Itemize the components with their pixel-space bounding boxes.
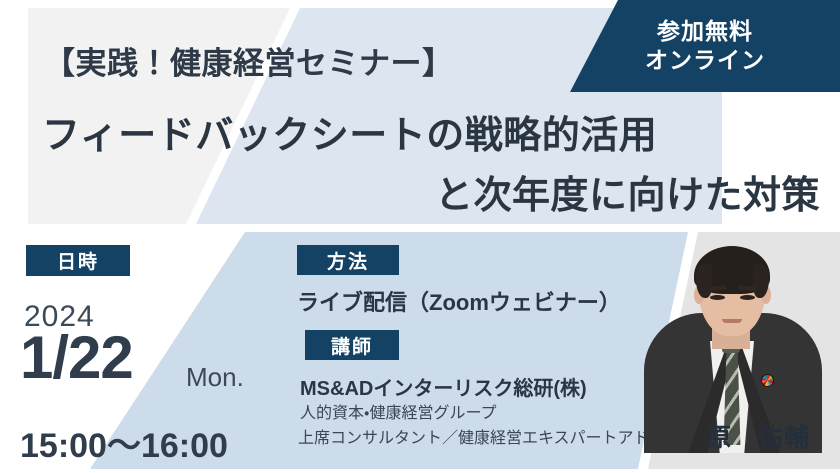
sdgs-pin-icon [761,374,774,387]
date-weekday: Mon. [186,362,244,393]
lecturer-name: 原 佑輔 [706,418,810,454]
free-badge-line1: 参加無料 [657,17,753,46]
seminar-title-line2: と次年度に向けた対策 [160,164,820,219]
date-time-range: 15:00〜16:00 [20,418,228,467]
photo-hair-side-left [696,264,712,298]
photo-eye-left [710,295,725,300]
date-label-badge: 日時 [26,245,130,276]
lecturer-group: 人的資本・健康経営グループ [300,399,496,423]
photo-mouth [722,319,742,323]
seminar-kicker: 【実践！健康経営セミナー】 [44,38,454,83]
seminar-banner: 参加無料 オンライン 【実践！健康経営セミナー】 フィードバックシートの戦略的活… [0,0,840,473]
date-day: 1/22 [20,328,133,388]
top-panel: 参加無料 オンライン 【実践！健康経営セミナー】 フィードバックシートの戦略的活… [0,0,840,232]
photo-eye-right [740,295,755,300]
lecturer-label-badge: 講師 [305,330,399,360]
lecturer-organization: MS&ADインターリスク総研(株) [300,372,587,401]
method-label-badge: 方法 [297,245,399,275]
method-value: ライブ配信（Zoomウェビナー） [297,285,621,317]
free-badge-line2: オンライン [645,46,765,75]
seminar-title-line1: フィードバックシートの戦略的活用 [42,104,657,159]
